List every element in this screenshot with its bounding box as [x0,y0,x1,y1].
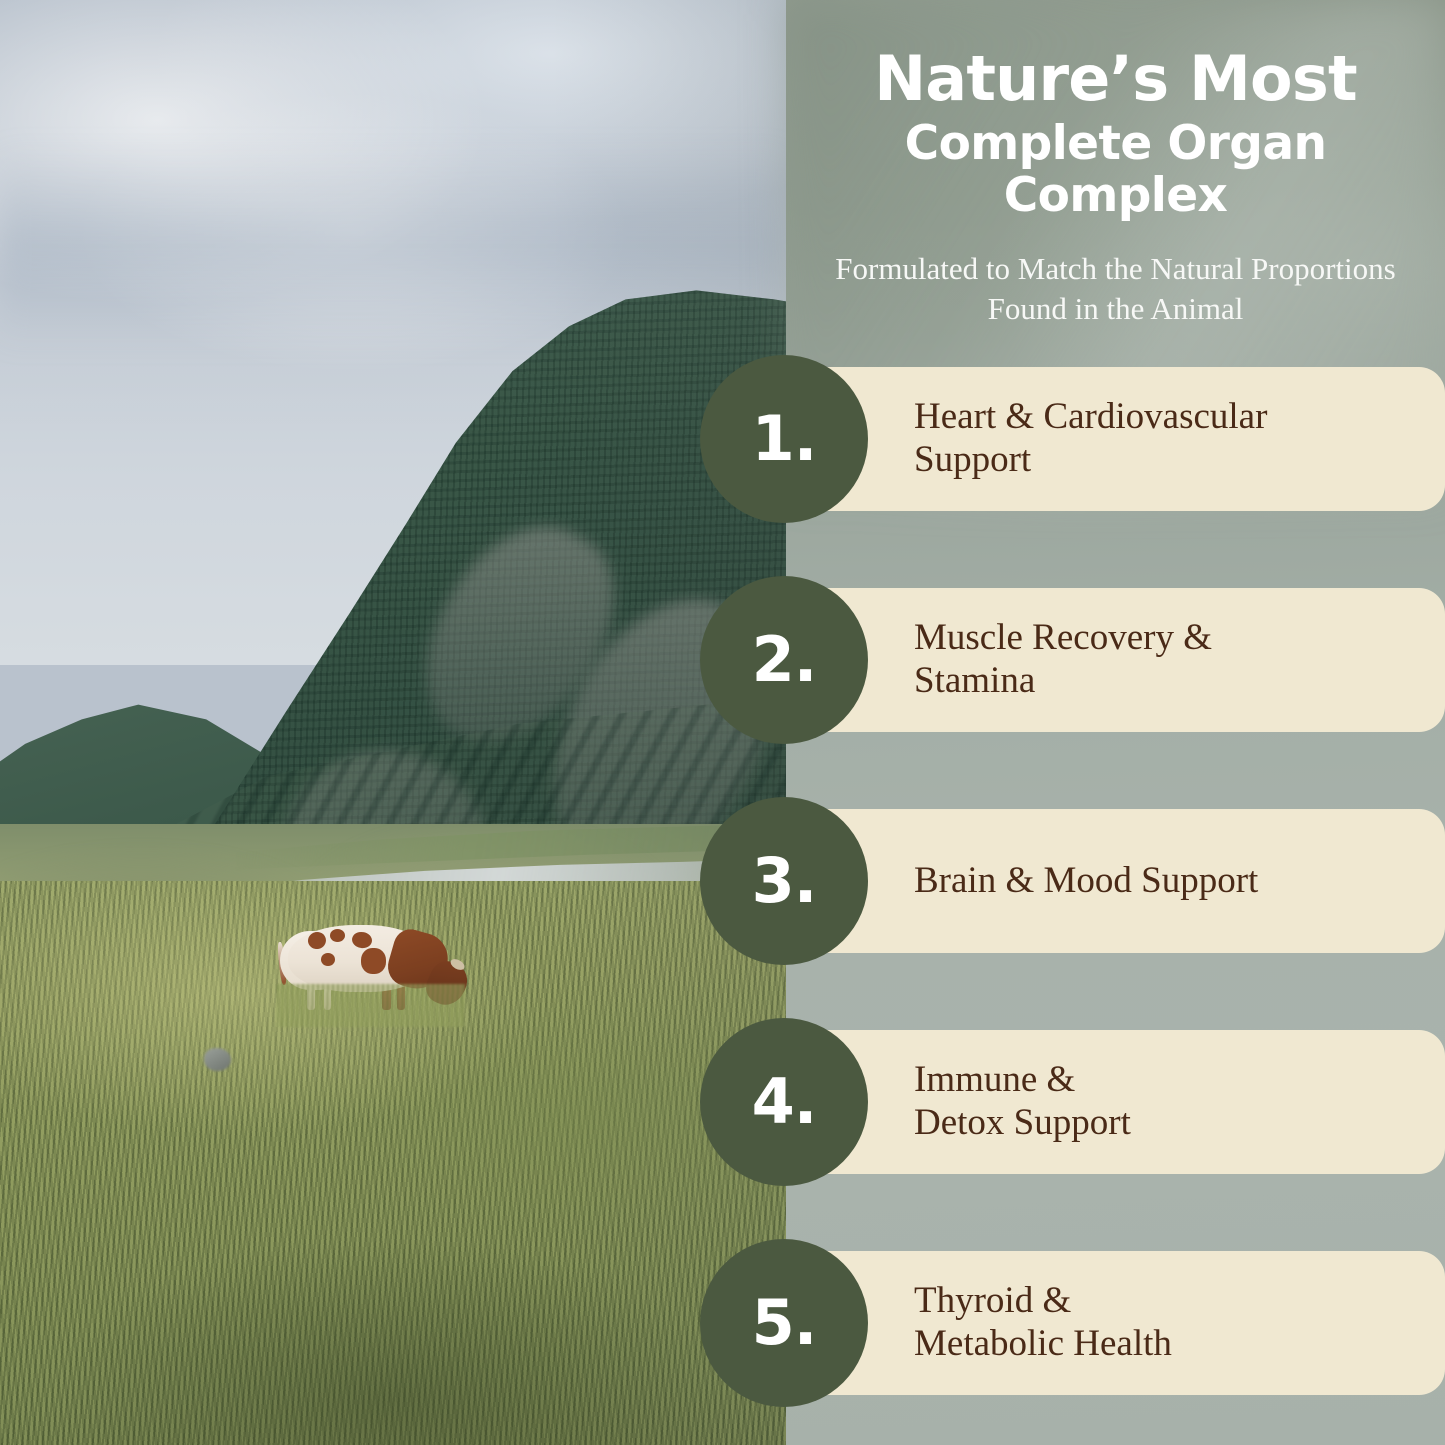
benefit-number: 2. [752,629,817,691]
benefit-number: 1. [752,408,817,470]
foreground-rock [204,1048,231,1071]
benefit-number-badge: 2. [700,576,868,744]
grazing-cow [277,918,466,1010]
benefit-item: Brain & Mood Support 3. [700,797,1445,965]
benefit-pill: Muscle Recovery & Stamina [784,588,1445,732]
benefit-pill: Immune & Detox Support [784,1030,1445,1174]
content-panel: Nature’s Most Complete Organ Complex For… [786,0,1445,1445]
benefit-item: Immune & Detox Support 4. [700,1018,1445,1186]
benefit-item: Muscle Recovery & Stamina 2. [700,576,1445,744]
benefit-item: Heart & Cardiovascular Support 1. [700,355,1445,523]
cow-patch [306,930,327,951]
headline-block: Nature’s Most Complete Organ Complex For… [786,46,1445,330]
occluding-grass [277,984,466,1027]
benefit-pill: Heart & Cardiovascular Support [784,367,1445,511]
promotional-poster: Nature’s Most Complete Organ Complex For… [0,0,1445,1445]
subtitle: Formulated to Match the Natural Proporti… [804,249,1427,330]
benefit-number-badge: 3. [700,797,868,965]
benefit-number: 3. [752,850,817,912]
pasture-photo [0,0,786,1445]
headline-line-1: Nature’s Most [804,46,1427,112]
benefits-list: Heart & Cardiovascular Support 1. Muscle… [700,355,1445,1445]
cow-patch [351,930,373,949]
cow-patch [361,948,386,975]
cow-patch [321,953,335,966]
benefit-item: Thyroid & Metabolic Health 5. [700,1239,1445,1407]
benefit-number: 4. [752,1071,817,1133]
benefit-number-badge: 5. [700,1239,868,1407]
cow-patch [330,929,345,942]
benefit-number: 5. [752,1292,817,1354]
benefit-pill: Thyroid & Metabolic Health [784,1251,1445,1395]
benefit-number-badge: 4. [700,1018,868,1186]
benefit-pill: Brain & Mood Support [784,809,1445,953]
benefit-number-badge: 1. [700,355,868,523]
headline-line-2: Complete Organ Complex [804,118,1427,223]
